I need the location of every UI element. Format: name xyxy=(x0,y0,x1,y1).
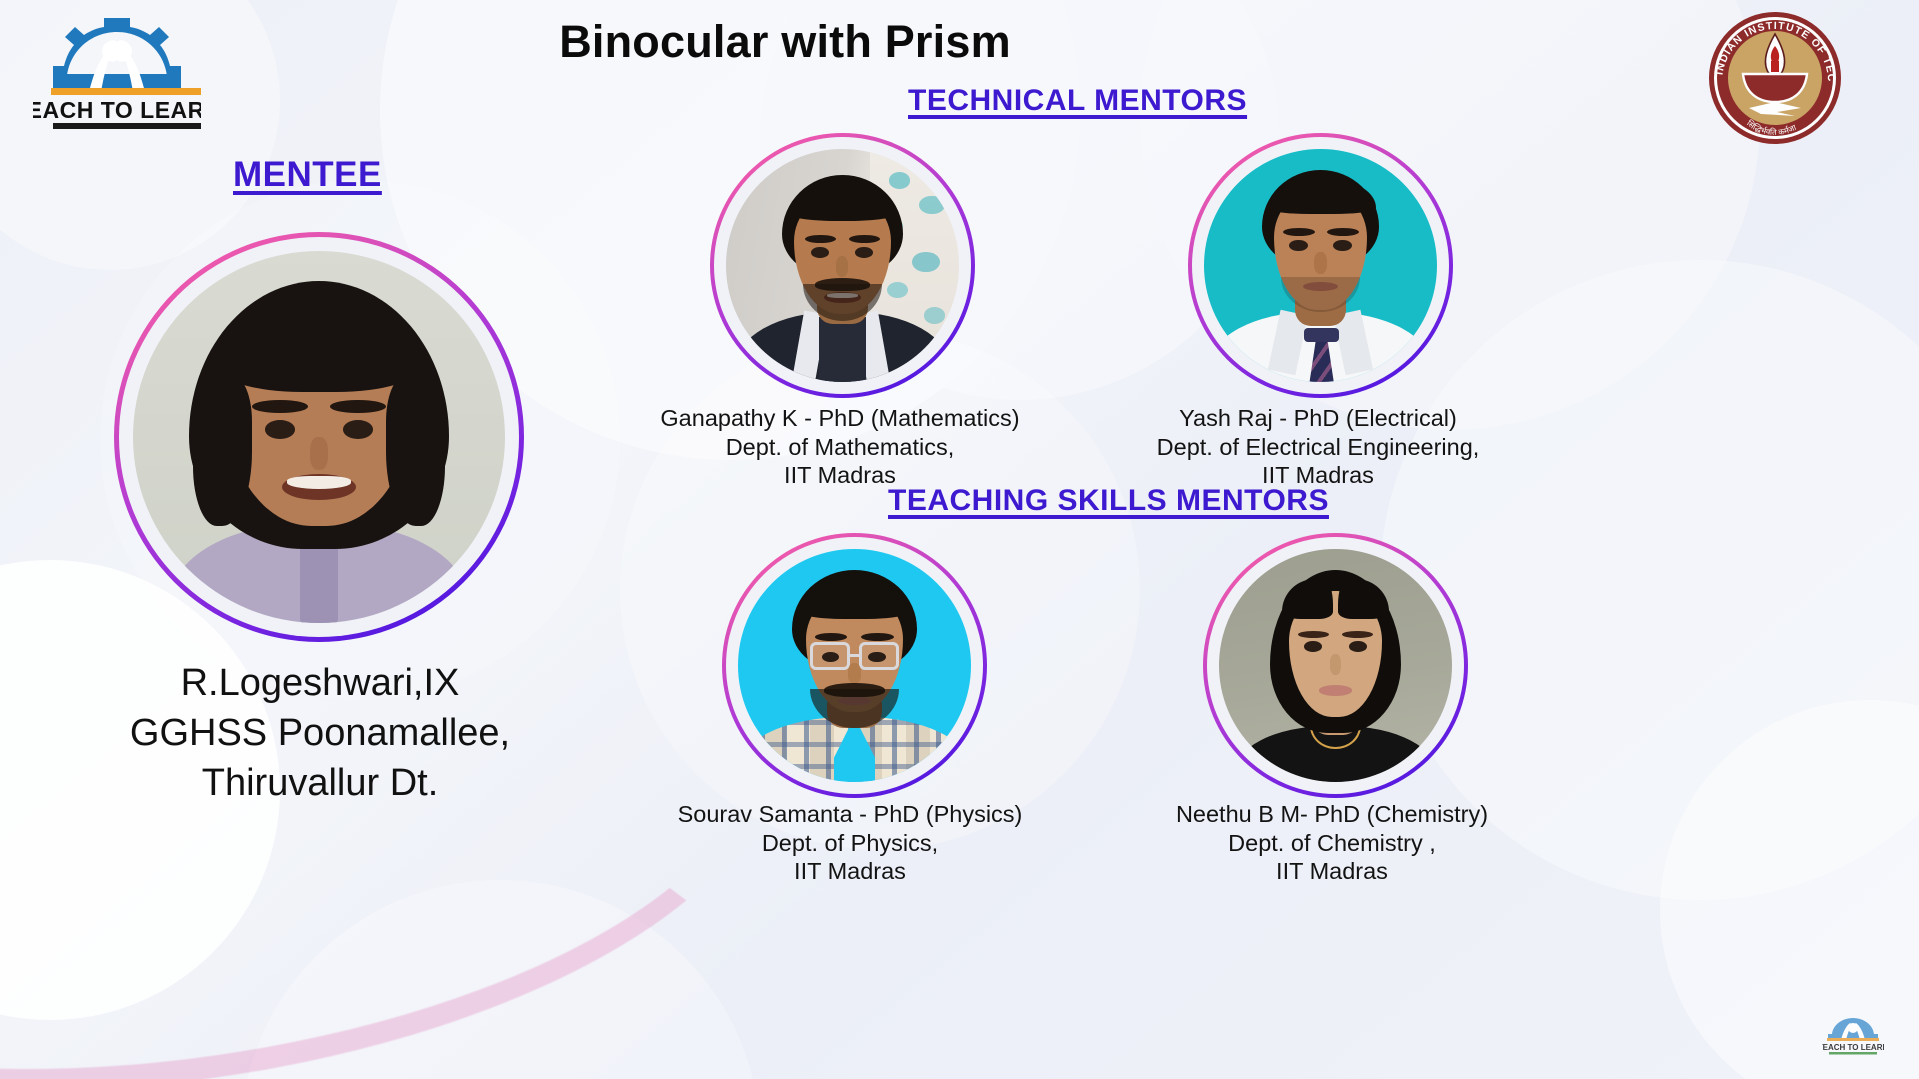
avatar-inner-gap xyxy=(1207,537,1464,794)
svg-text:TEACH TO LEARN: TEACH TO LEARN xyxy=(33,97,201,123)
mentor-caption-neethu-b-m: Neethu B M- PhD (Chemistry) Dept. of Che… xyxy=(1112,800,1552,886)
mentor-photo-ganapathy-k xyxy=(726,149,959,382)
mentor-avatar-yash-raj xyxy=(1188,133,1453,398)
mentor-avatar-ganapathy xyxy=(710,133,975,398)
mentee-photo-logeshwari xyxy=(133,251,505,623)
mentor-photo-sourav-samanta xyxy=(738,549,971,782)
mentee-avatar xyxy=(114,232,524,642)
mentor-photo-yash-raj xyxy=(1204,149,1437,382)
mentor-photo-neethu-b-m xyxy=(1219,549,1452,782)
mentee-caption: R.Logeshwari,IX GGHSS Poonamallee, Thiru… xyxy=(80,658,560,808)
teach-to-learn-logo: TEACH TO LEARN xyxy=(33,18,201,130)
mentor-avatar-sourav-samanta xyxy=(722,533,987,798)
avatar-inner-gap xyxy=(119,237,519,637)
page-title: Binocular with Prism xyxy=(0,16,1570,68)
mentor-caption-ganapathy: Ganapathy K - PhD (Mathematics) Dept. of… xyxy=(620,404,1060,490)
section-heading-mentee: MENTEE xyxy=(233,155,382,195)
mentor-avatar-neethu-b-m xyxy=(1203,533,1468,798)
section-heading-technical: TECHNICAL MENTORS xyxy=(908,84,1247,118)
svg-text:TEACH TO LEARN: TEACH TO LEARN xyxy=(1822,1043,1884,1052)
avatar-inner-gap xyxy=(714,137,971,394)
mentor-caption-yash-raj: Yash Raj - PhD (Electrical) Dept. of Ele… xyxy=(1098,404,1538,490)
iit-madras-logo: INDIAN INSTITUTE OF TECHNOLOGY MADRAS सि… xyxy=(1705,8,1845,148)
avatar-inner-gap xyxy=(726,537,983,794)
teach-to-learn-watermark: TEACH TO LEARN xyxy=(1822,1012,1884,1060)
avatar-inner-gap xyxy=(1192,137,1449,394)
mentor-caption-sourav-samanta: Sourav Samanta - PhD (Physics) Dept. of … xyxy=(630,800,1070,886)
